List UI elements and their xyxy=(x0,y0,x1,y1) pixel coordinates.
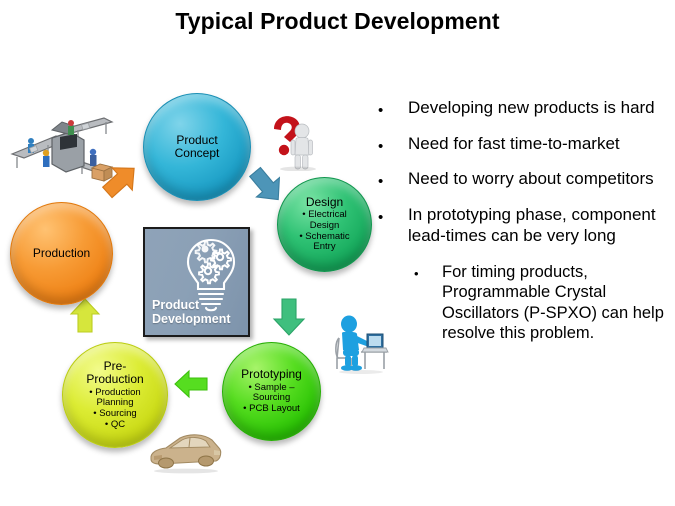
bullet-text: Developing new products is hard xyxy=(408,98,670,119)
stage-circle-prototyping[interactable]: Prototyping • Sample – Sourcing • PCB La… xyxy=(222,342,321,441)
bullet-text: Need to worry about competitors xyxy=(408,169,670,190)
prototype-car-model-illustration xyxy=(146,428,224,479)
stage-title-pre-production: Pre- Production xyxy=(86,360,143,387)
center-panel-label: Product Development xyxy=(152,298,231,328)
bullet-item: • In prototyping phase, component lead-t… xyxy=(378,205,670,246)
bullet-text: In prototyping phase, component lead-tim… xyxy=(408,205,670,246)
bullet-marker: • xyxy=(378,98,408,118)
bullet-item: • Developing new products is hard xyxy=(378,98,670,119)
center-panel-product-development[interactable]: Product Development xyxy=(143,227,250,337)
stage-circle-product-concept[interactable]: Product Concept xyxy=(143,93,251,201)
stage-title-prototyping: Prototyping xyxy=(241,368,302,381)
stage-title-product-concept: Product Concept xyxy=(175,134,220,161)
bullet-marker: • xyxy=(414,262,442,280)
arrow-design-to-prototyping xyxy=(266,293,312,344)
product-development-cycle-diagram: Product Concept Design • Electrical Desi… xyxy=(0,80,390,500)
bullet-item: • Need for fast time-to-market xyxy=(378,134,670,155)
page-title: Typical Product Development xyxy=(0,8,675,35)
stage-circle-production[interactable]: Production xyxy=(10,202,113,305)
stage-title-design: Design xyxy=(306,196,343,209)
bullet-text: For timing products, Programmable Crysta… xyxy=(442,262,670,344)
stage-details-design: • Electrical Design • Schematic Entry xyxy=(299,210,349,253)
stage-details-prototyping: • Sample – Sourcing • PCB Layout xyxy=(243,383,300,415)
stage-details-pre-production: • Production Planning • Sourcing • QC xyxy=(89,388,140,431)
bullet-item-sub: • For timing products, Programmable Crys… xyxy=(378,262,670,344)
arrow-prototyping-to-preproduction xyxy=(169,361,215,412)
bullet-item: • Need to worry about competitors xyxy=(378,169,670,190)
stage-circle-pre-production[interactable]: Pre- Production • Production Planning • … xyxy=(62,342,168,448)
bullet-marker: • xyxy=(378,169,408,189)
stage-title-production: Production xyxy=(33,247,90,260)
bullet-list: • Developing new products is hard • Need… xyxy=(378,98,670,343)
arrow-production-to-concept xyxy=(97,158,143,209)
stage-circle-design[interactable]: Design • Electrical Design • Schematic E… xyxy=(277,177,372,272)
bullet-marker: • xyxy=(378,205,408,225)
bullet-text: Need for fast time-to-market xyxy=(408,134,670,155)
bullet-marker: • xyxy=(378,134,408,154)
